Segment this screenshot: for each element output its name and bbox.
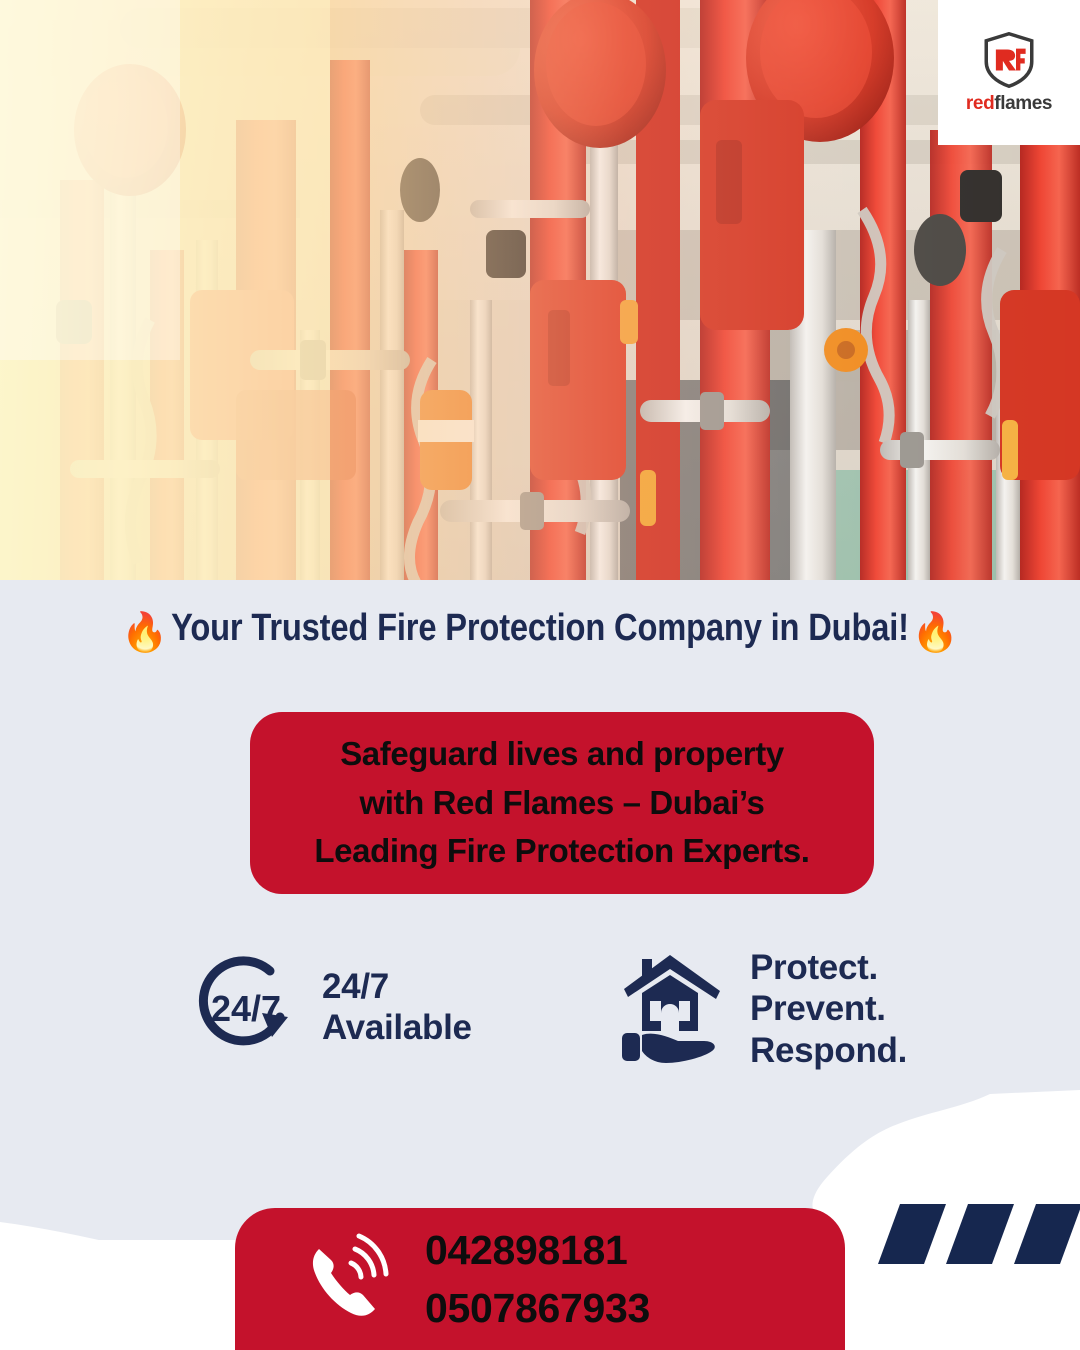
feature-promise: Protect. Prevent. Respond. [620, 947, 907, 1071]
fire-emoji-left: 🔥 [121, 611, 168, 655]
fire-sprinkler-valves-photo [0, 0, 1080, 583]
feature-promise-line-1: Protect. [750, 947, 907, 988]
shield-rf-monogram-icon [982, 32, 1036, 88]
brand-wordmark: redflames [966, 94, 1052, 113]
feature-availability-line-1: 24/7 [322, 966, 472, 1007]
page-title: 🔥Your Trusted Fire Protection Company in… [76, 607, 1005, 655]
feature-availability-line-2: Available [322, 1007, 472, 1048]
feature-availability-label: 24/7 Available [322, 966, 472, 1049]
phone-number-1[interactable]: 042898181 [425, 1221, 650, 1279]
brand-name-red: red [966, 93, 994, 114]
hero-photo: redflames [0, 0, 1080, 583]
feature-row: 24/7 24/7 Available [0, 945, 1080, 1115]
brand-name-flames: flames [994, 93, 1052, 114]
tagline-text: Safeguard lives and property with Red Fl… [300, 730, 823, 876]
feature-promise-label: Protect. Prevent. Respond. [750, 947, 907, 1071]
tagline-line-3: Leading Fire Protection Experts. [314, 827, 809, 876]
tagline-line-1: Safeguard lives and property [314, 730, 809, 779]
page-title-text: Your Trusted Fire Protection Company in … [171, 607, 909, 650]
diagonal-stripes-icon [878, 1204, 1080, 1264]
house-in-hand-icon [620, 951, 724, 1067]
feature-promise-line-3: Respond. [750, 1030, 907, 1071]
feature-promise-line-2: Prevent. [750, 988, 907, 1029]
24-7-clock-arrow-icon: 24/7 [196, 955, 300, 1059]
poster-canvas: redflames 🔥Your Trusted Fire Protection … [0, 0, 1080, 1350]
contact-bar[interactable]: 042898181 0507867933 [235, 1208, 845, 1350]
brand-logo: redflames [938, 0, 1080, 145]
fire-emoji-right: 🔥 [912, 611, 959, 655]
phone-ringing-icon [297, 1233, 389, 1325]
tagline-card: Safeguard lives and property with Red Fl… [250, 712, 874, 894]
phone-number-2[interactable]: 0507867933 [425, 1279, 650, 1337]
contact-numbers: 042898181 0507867933 [425, 1221, 650, 1337]
feature-availability: 24/7 24/7 Available [196, 955, 472, 1059]
tagline-line-2: with Red Flames – Dubai’s [314, 779, 809, 828]
24-7-icon-text: 24/7 [211, 988, 281, 1029]
